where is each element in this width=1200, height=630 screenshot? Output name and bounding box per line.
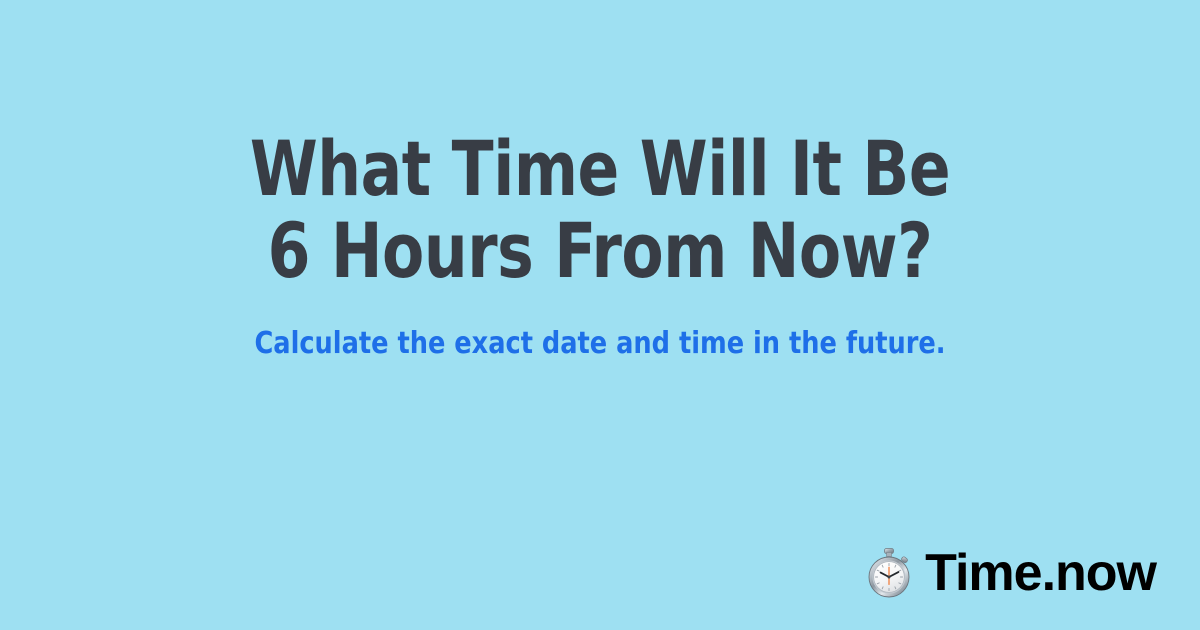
og-card: What Time Will It Be 6 Hours From Now? C… [0, 0, 1200, 630]
brand-name: Time.now [925, 546, 1156, 600]
page-title-line-1: What Time Will It Be [96, 128, 1104, 210]
page-title-line-2: 6 Hours From Now? [96, 210, 1104, 292]
stopwatch-icon [865, 547, 913, 599]
page-subtitle: Calculate the exact date and time in the… [30, 326, 1170, 362]
brand-lockup: Time.now [865, 546, 1156, 600]
page-title: What Time Will It Be 6 Hours From Now? [0, 128, 1200, 292]
